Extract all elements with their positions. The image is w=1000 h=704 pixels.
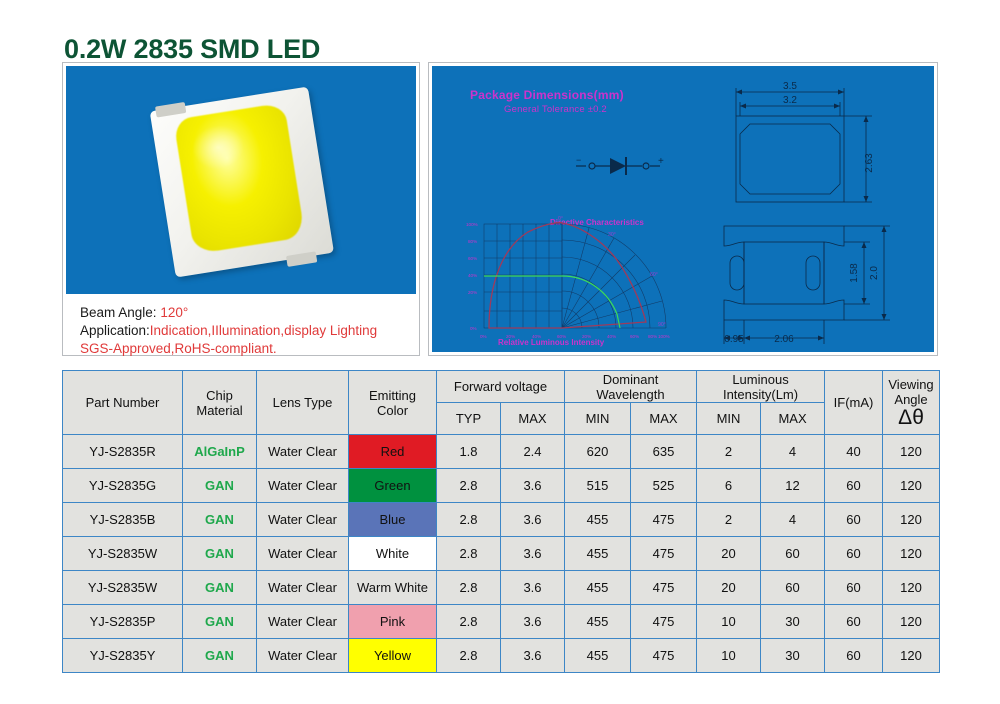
viewing-angle-symbol: Δθ (883, 407, 939, 428)
dim-top-height: 2.63 (864, 153, 875, 173)
table-body: YJ-S2835RAlGaInPWater ClearRed1.82.46206… (63, 435, 940, 673)
cell-chip-material: GAN (183, 469, 257, 503)
cell-lum-min: 2 (697, 503, 761, 537)
table-row: YJ-S2835GGANWater ClearGreen2.83.6515525… (63, 469, 940, 503)
cell-lum-max: 60 (761, 537, 825, 571)
col-vf-max: MAX (501, 403, 565, 435)
side-view-dimension-drawing: 1.58 2.0 0.95 2.06 (694, 212, 934, 352)
cell-part-number: YJ-S2835Y (63, 639, 183, 673)
col-lum-max: MAX (761, 403, 825, 435)
cell-vf-max: 3.6 (501, 503, 565, 537)
cell-viewing-angle: 120 (883, 435, 940, 469)
col-part-number: Part Number (63, 371, 183, 435)
cell-emitting-color: Pink (349, 605, 437, 639)
cell-lens-type: Water Clear (257, 639, 349, 673)
cell-lum-min: 2 (697, 435, 761, 469)
cell-wl-max: 635 (631, 435, 697, 469)
beam-angle-value: 120° (160, 305, 188, 320)
cell-chip-material: AlGaInP (183, 435, 257, 469)
led-package-illustration (141, 79, 343, 286)
cell-wl-max: 475 (631, 571, 697, 605)
cell-chip-material: GAN (183, 571, 257, 605)
cell-wl-max: 475 (631, 537, 697, 571)
cell-viewing-angle: 120 (883, 503, 940, 537)
cell-chip-material: GAN (183, 503, 257, 537)
technical-drawing-panel: Package Dimensions(mm) General Tolerance… (428, 62, 938, 356)
col-lens-type: Lens Type (257, 371, 349, 435)
cell-wl-max: 475 (631, 605, 697, 639)
cell-viewing-angle: 120 (883, 605, 940, 639)
cell-emitting-color: Yellow (349, 639, 437, 673)
cell-lens-type: Water Clear (257, 469, 349, 503)
svg-text:40%: 40% (607, 334, 616, 339)
svg-text:90°: 90° (658, 322, 666, 328)
dim-side-outer-height: 2.0 (869, 266, 880, 280)
table-row: YJ-S2835BGANWater ClearBlue2.83.64554752… (63, 503, 940, 537)
svg-text:100%: 100% (466, 222, 478, 227)
cell-lum-min: 10 (697, 605, 761, 639)
table-row: YJ-S2835RAlGaInPWater ClearRed1.82.46206… (63, 435, 940, 469)
col-chip-material: Chip Material (183, 371, 257, 435)
svg-text:40%: 40% (468, 273, 477, 278)
col-lum-min: MIN (697, 403, 761, 435)
cell-if-ma: 60 (825, 605, 883, 639)
svg-text:80%: 80% (468, 239, 477, 244)
cell-emitting-color: Warm White (349, 571, 437, 605)
cell-lens-type: Water Clear (257, 605, 349, 639)
cell-wl-min: 455 (565, 537, 631, 571)
svg-text:20%: 20% (468, 290, 477, 295)
cell-lum-max: 60 (761, 571, 825, 605)
col-forward-voltage: Forward voltage (437, 371, 565, 403)
dim-side-pad-width: 0.95 (724, 334, 744, 345)
cell-wl-min: 455 (565, 605, 631, 639)
cell-wl-max: 475 (631, 639, 697, 673)
svg-text:0%: 0% (480, 334, 487, 339)
col-wl-min: MIN (565, 403, 631, 435)
cell-vf-max: 3.6 (501, 537, 565, 571)
svg-text:0%: 0% (470, 326, 477, 331)
cell-lum-max: 12 (761, 469, 825, 503)
cell-lens-type: Water Clear (257, 537, 349, 571)
cell-vf-max: 3.6 (501, 639, 565, 673)
cell-lum-max: 4 (761, 503, 825, 537)
application-value: Indication,IIlumination,display Lighting (150, 323, 377, 338)
dim-side-inner-height: 1.58 (849, 263, 860, 283)
cell-viewing-angle: 120 (883, 469, 940, 503)
svg-text:60%: 60% (630, 334, 639, 339)
table-row: YJ-S2835PGANWater ClearPink2.83.64554751… (63, 605, 940, 639)
cell-emitting-color: Red (349, 435, 437, 469)
cell-vf-typ: 1.8 (437, 435, 501, 469)
cell-emitting-color: Blue (349, 503, 437, 537)
cell-if-ma: 60 (825, 537, 883, 571)
led-phosphor-area (173, 102, 305, 254)
beam-angle-label: Beam Angle: (80, 305, 160, 320)
cell-wl-min: 455 (565, 503, 631, 537)
radiation-curve (489, 223, 646, 328)
cell-part-number: YJ-S2835B (63, 503, 183, 537)
cell-chip-material: GAN (183, 537, 257, 571)
col-viewing-angle: Viewing Angle Δθ (883, 371, 940, 435)
cell-if-ma: 60 (825, 469, 883, 503)
dim-top-inner-width: 3.2 (783, 95, 797, 106)
cell-vf-typ: 2.8 (437, 469, 501, 503)
cell-vf-max: 2.4 (501, 435, 565, 469)
beam-angle-line: Beam Angle: 120° (80, 304, 416, 322)
cell-lum-max: 4 (761, 435, 825, 469)
cell-vf-typ: 2.8 (437, 537, 501, 571)
cell-wl-min: 455 (565, 639, 631, 673)
cell-vf-typ: 2.8 (437, 605, 501, 639)
diode-symbol-icon: − + (574, 154, 666, 178)
cell-lum-min: 6 (697, 469, 761, 503)
cell-vf-typ: 2.8 (437, 571, 501, 605)
lambertian-curve (484, 276, 620, 328)
cell-vf-typ: 2.8 (437, 639, 501, 673)
cell-vf-max: 3.6 (501, 605, 565, 639)
cell-lum-min: 20 (697, 571, 761, 605)
table-header-row-1: Part Number Chip Material Lens Type Emit… (63, 371, 940, 403)
col-if-ma: IF(mA) (825, 371, 883, 435)
technical-drawing-area: Package Dimensions(mm) General Tolerance… (432, 66, 934, 352)
cell-viewing-angle: 120 (883, 639, 940, 673)
cell-lens-type: Water Clear (257, 503, 349, 537)
svg-text:100%: 100% (658, 334, 670, 339)
col-emitting-color: Emitting Color (349, 371, 437, 435)
cell-viewing-angle: 120 (883, 571, 940, 605)
svg-text:60°: 60° (650, 272, 658, 278)
cell-if-ma: 60 (825, 503, 883, 537)
cell-vf-max: 3.6 (501, 571, 565, 605)
cell-emitting-color: Green (349, 469, 437, 503)
cell-chip-material: GAN (183, 639, 257, 673)
cell-if-ma: 40 (825, 435, 883, 469)
svg-text:80%: 80% (648, 334, 657, 339)
general-tolerance-subtitle: General Tolerance ±0.2 (504, 104, 607, 115)
cell-lum-max: 30 (761, 639, 825, 673)
cell-viewing-angle: 120 (883, 537, 940, 571)
product-photo-panel: Beam Angle: 120° Application:Indication,… (62, 62, 420, 356)
cell-emitting-color: White (349, 537, 437, 571)
table-row: YJ-S2835WGANWater ClearWhite2.83.6455475… (63, 537, 940, 571)
directive-characteristics-chart: 100% 80% 60% 40% 20% 0% 0% 20% 40% 60% 2… (462, 214, 677, 352)
cell-part-number: YJ-S2835G (63, 469, 183, 503)
table-row: YJ-S2835YGANWater ClearYellow2.83.645547… (63, 639, 940, 673)
cell-wl-min: 455 (565, 571, 631, 605)
cell-lum-min: 10 (697, 639, 761, 673)
cell-wl-min: 620 (565, 435, 631, 469)
cell-vf-typ: 2.8 (437, 503, 501, 537)
specification-table: Part Number Chip Material Lens Type Emit… (62, 370, 940, 673)
cell-wl-max: 475 (631, 503, 697, 537)
dim-top-outer-width: 3.5 (783, 81, 797, 92)
compliance-line: SGS-Approved,RoHS-compliant. (80, 340, 416, 358)
dim-side-body-width: 2.06 (774, 334, 794, 345)
cell-lum-min: 20 (697, 537, 761, 571)
package-dimensions-title: Package Dimensions(mm) (470, 88, 624, 102)
application-label: Application: (80, 323, 150, 338)
panels-row: Beam Angle: 120° Application:Indication,… (62, 62, 938, 356)
product-spec-text: Beam Angle: 120° Application:Indication,… (66, 299, 416, 352)
cell-lens-type: Water Clear (257, 571, 349, 605)
cell-vf-max: 3.6 (501, 469, 565, 503)
col-vf-typ: TYP (437, 403, 501, 435)
led-photo (66, 66, 416, 294)
cell-part-number: YJ-S2835W (63, 571, 183, 605)
cell-lens-type: Water Clear (257, 435, 349, 469)
table-row: YJ-S2835WGANWater ClearWarm White2.83.64… (63, 571, 940, 605)
col-luminous-intensity: Luminous Intensity(Lm) (697, 371, 825, 403)
svg-text:60%: 60% (468, 256, 477, 261)
polar-chart-xlabel: Relative Luminous Intensity (498, 338, 604, 347)
cell-chip-material: GAN (183, 605, 257, 639)
svg-text:0°: 0° (558, 216, 563, 222)
svg-text:30°: 30° (608, 232, 616, 238)
cell-part-number: YJ-S2835W (63, 537, 183, 571)
cell-wl-min: 515 (565, 469, 631, 503)
svg-text:+: + (658, 156, 664, 167)
cell-wl-max: 525 (631, 469, 697, 503)
svg-text:−: − (576, 155, 581, 165)
application-line: Application:Indication,IIlumination,disp… (80, 322, 416, 340)
cell-if-ma: 60 (825, 571, 883, 605)
cell-if-ma: 60 (825, 639, 883, 673)
cell-part-number: YJ-S2835P (63, 605, 183, 639)
cell-part-number: YJ-S2835R (63, 435, 183, 469)
page-title: 0.2W 2835 SMD LED (64, 34, 320, 65)
col-wl-max: MAX (631, 403, 697, 435)
top-view-dimension-drawing: 3.5 3.2 2.63 (694, 78, 934, 210)
col-dominant-wavelength: Dominant Wavelength (565, 371, 697, 403)
cell-lum-max: 30 (761, 605, 825, 639)
